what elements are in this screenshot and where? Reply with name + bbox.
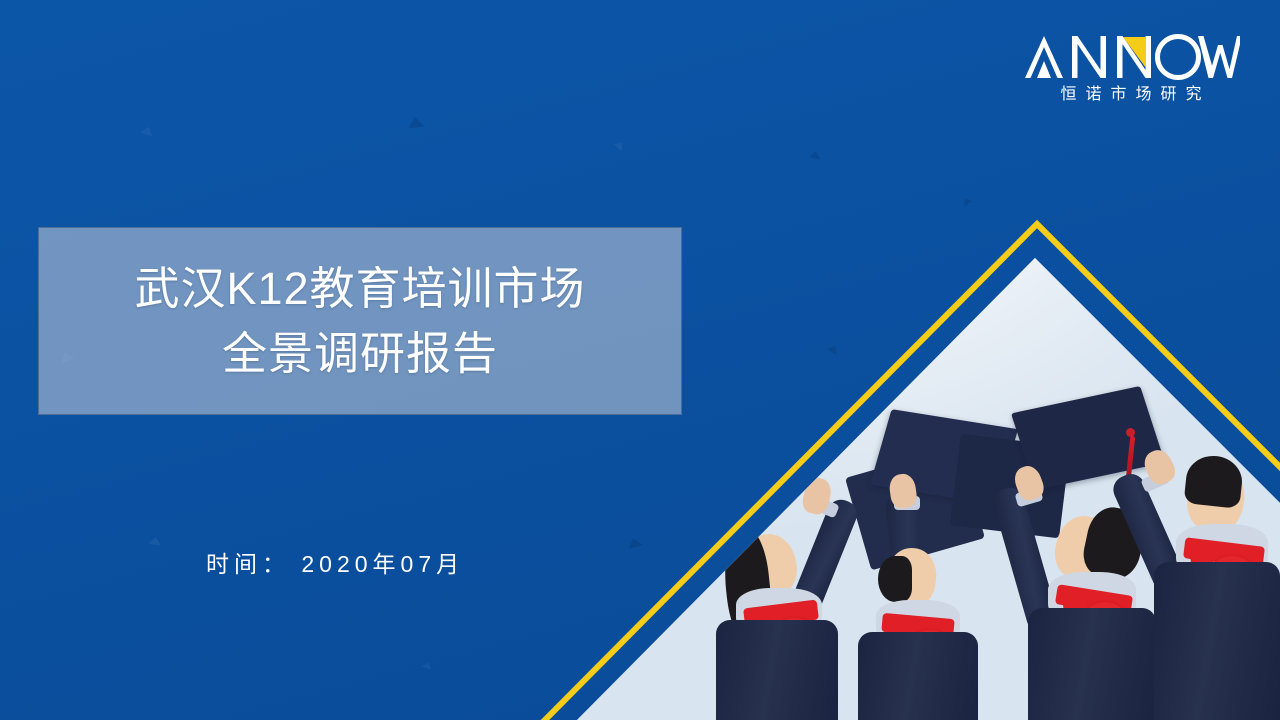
graduate-gown xyxy=(858,632,978,720)
logo-wordmark xyxy=(1022,33,1240,81)
logo-subtitle: 恒诺市场研究 xyxy=(1022,86,1240,104)
title-line-2: 全景调研报告 xyxy=(222,327,498,380)
title-line-1: 武汉K12教育培训市场 xyxy=(134,262,585,315)
cover-slide: 武汉K12教育培训市场 全景调研报告 时间： 2020年07月 xyxy=(0,0,1280,720)
graduate-gown xyxy=(1028,608,1156,720)
annow-wordmark-icon xyxy=(1022,33,1240,81)
title-box: 武汉K12教育培训市场 全景调研报告 xyxy=(38,227,682,415)
report-date: 时间： 2020年07月 xyxy=(206,545,464,579)
graduate-gown xyxy=(716,620,838,720)
graduate-gown xyxy=(1154,562,1280,720)
graduate-hair xyxy=(878,556,912,602)
annow-logo: 恒诺市场研究 xyxy=(1022,33,1240,104)
